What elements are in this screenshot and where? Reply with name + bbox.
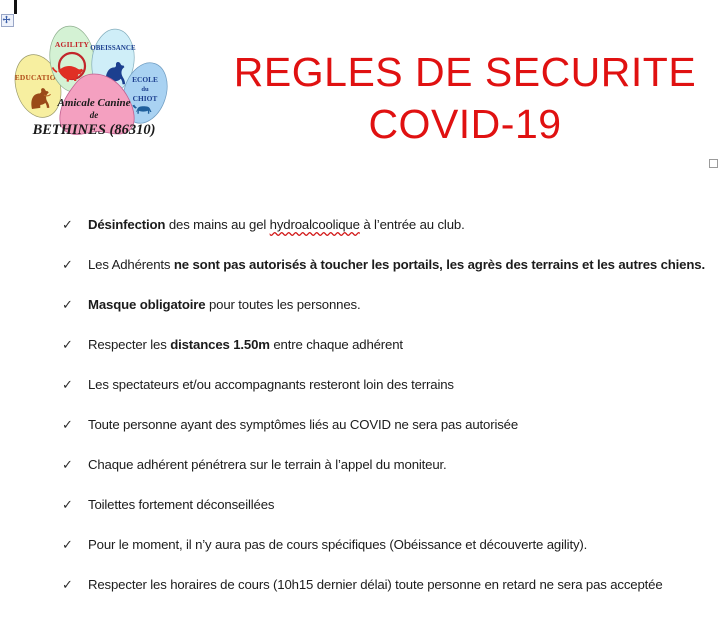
rule-text: Masque obligatoire pour toutes les perso… [88, 296, 361, 314]
rule-item: ✓Respecter les horaires de cours (10h15 … [0, 576, 720, 616]
rule-text: Respecter les horaires de cours (10h15 d… [88, 576, 663, 594]
rule-item: ✓Les spectateurs et/ou accompagnants res… [0, 376, 720, 416]
svg-text:OBEISSANCE: OBEISSANCE [90, 45, 136, 52]
rule-item: ✓Les Adhérents ne sont pas autorisés à t… [0, 256, 720, 296]
rule-text: Respecter les distances 1.50m entre chaq… [88, 336, 403, 354]
rule-text: Les spectateurs et/ou accompagnants rest… [88, 376, 454, 394]
rule-text: Pour le moment, il n’y aura pas de cours… [88, 536, 587, 554]
checkmark-bullet-icon: ✓ [62, 216, 88, 234]
rule-item: ✓Chaque adhérent pénétrera sur le terrai… [0, 456, 720, 496]
checkmark-bullet-icon: ✓ [62, 296, 88, 314]
rule-text: Désinfection des mains au gel hydroalcoo… [88, 216, 465, 234]
checkmark-bullet-icon: ✓ [62, 456, 88, 474]
checkmark-bullet-icon: ✓ [62, 536, 88, 554]
checkmark-bullet-icon: ✓ [62, 376, 88, 394]
svg-text:BETHINES (86310): BETHINES (86310) [32, 122, 156, 138]
rule-item: ✓Masque obligatoire pour toutes les pers… [0, 296, 720, 336]
rule-text: Chaque adhérent pénétrera sur le terrain… [88, 456, 447, 474]
svg-text:AGILITY: AGILITY [55, 40, 90, 49]
title-line-2: COVID-19 [215, 98, 715, 150]
svg-text:de: de [90, 110, 99, 120]
checkmark-bullet-icon: ✓ [62, 256, 88, 274]
title-line-1: REGLES DE SECURITE [215, 46, 715, 98]
svg-text:ECOLE: ECOLE [132, 75, 158, 84]
rules-list: ✓Désinfection des mains au gel hydroalco… [0, 216, 720, 616]
rule-text: Toilettes fortement déconseillées [88, 496, 274, 514]
svg-text:du: du [141, 86, 149, 93]
checkmark-bullet-icon: ✓ [62, 336, 88, 354]
page-title: REGLES DE SECURITE COVID-19 [215, 46, 715, 150]
svg-text:CHIOT: CHIOT [133, 94, 158, 103]
svg-text:Amicale Canine: Amicale Canine [56, 97, 130, 109]
checkmark-bullet-icon: ✓ [62, 496, 88, 514]
checkmark-bullet-icon: ✓ [62, 576, 88, 594]
rule-text: Toute personne ayant des symptômes liés … [88, 416, 518, 434]
rule-item: ✓Pour le moment, il n’y aura pas de cour… [0, 536, 720, 576]
rule-item: ✓Désinfection des mains au gel hydroalco… [0, 216, 720, 256]
rule-text: Les Adhérents ne sont pas autorisés à to… [88, 256, 705, 274]
rule-item: ✓Respecter les distances 1.50m entre cha… [0, 336, 720, 376]
document-header: EDUCATION AGILITY OBEISSANCE [0, 0, 720, 200]
checkmark-bullet-icon: ✓ [62, 416, 88, 434]
club-logo[interactable]: EDUCATION AGILITY OBEISSANCE [10, 14, 180, 174]
rule-item: ✓Toute personne ayant des symptômes liés… [0, 416, 720, 456]
rule-item: ✓Toilettes fortement déconseillées [0, 496, 720, 536]
